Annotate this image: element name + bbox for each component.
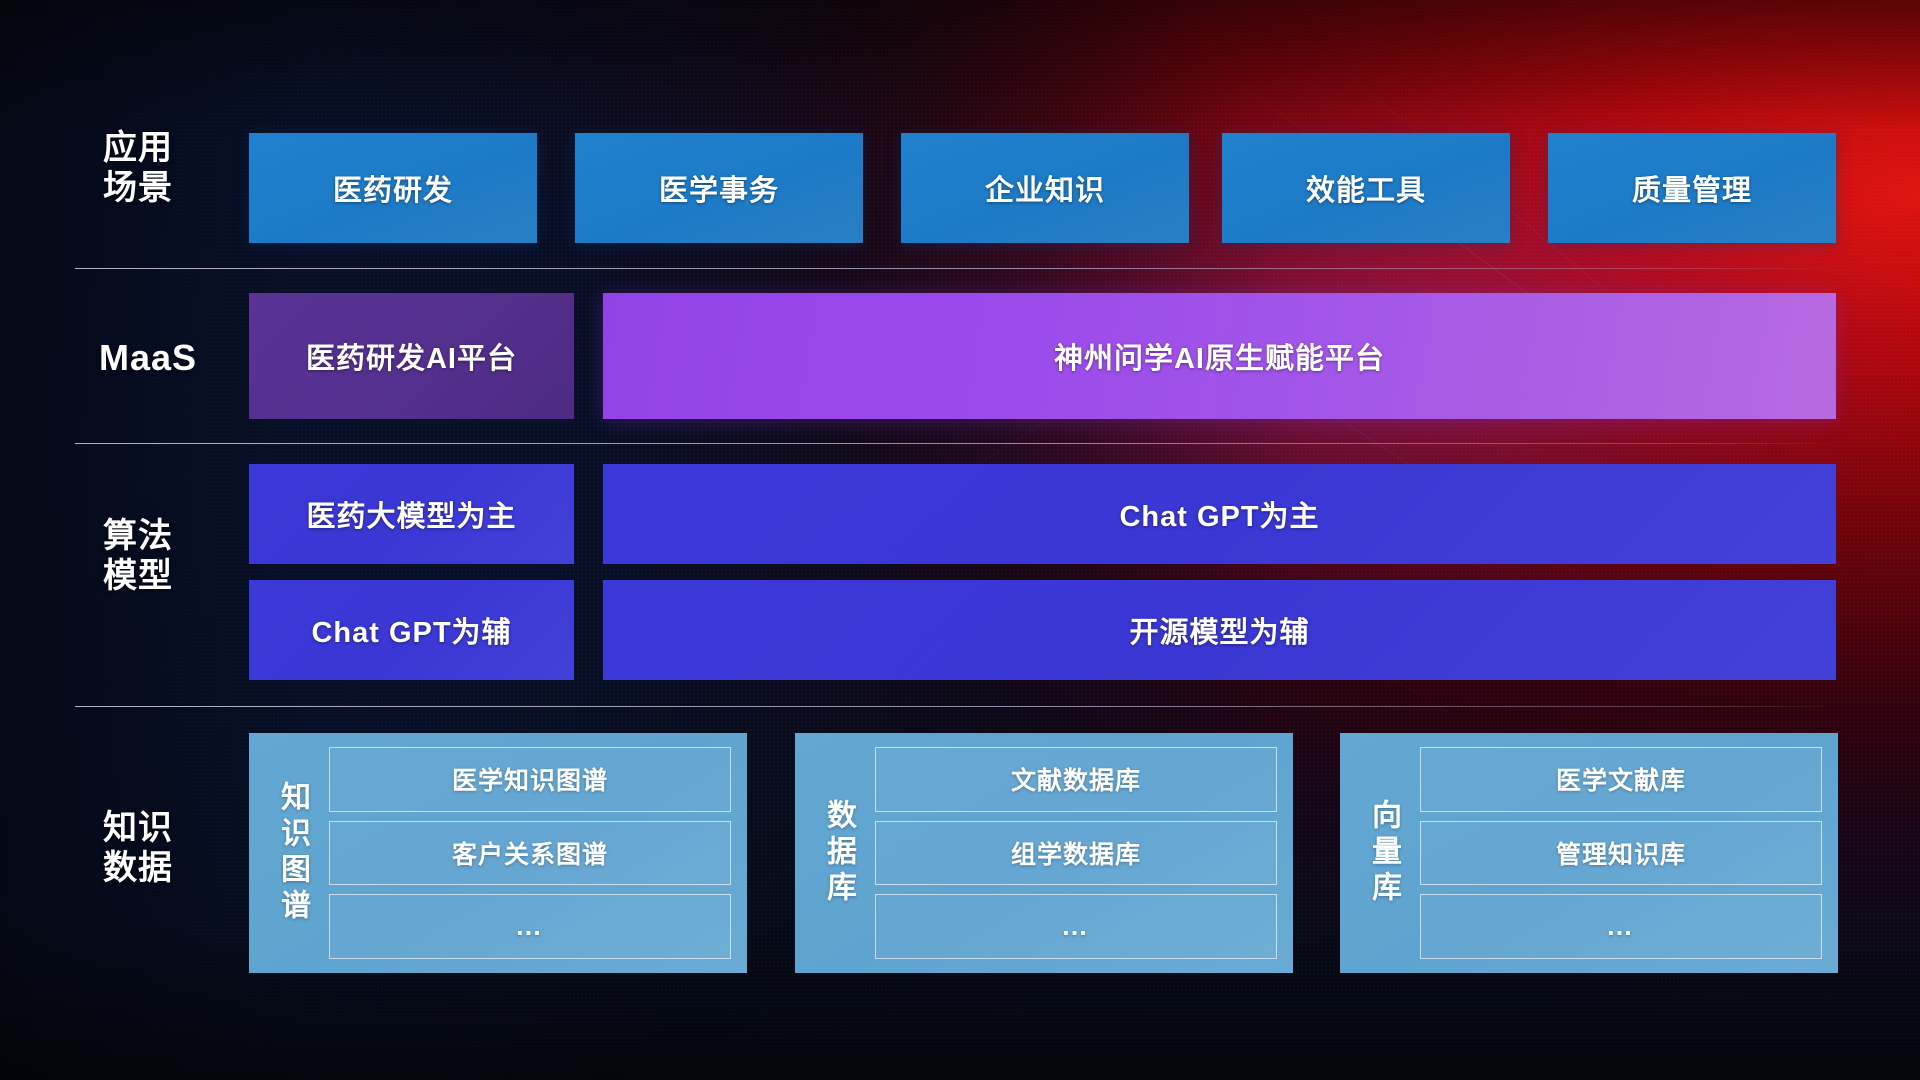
knowledge-block-2-item-2[interactable]: 组学数据库 <box>875 821 1277 886</box>
knowledge-block-3-item-1[interactable]: 医学文献库 <box>1420 747 1822 812</box>
app-card-3[interactable]: 企业知识 <box>901 133 1189 243</box>
app-card-2[interactable]: 医学事务 <box>575 133 863 243</box>
model-card-left-2-label: Chat GPT为辅 <box>311 609 511 651</box>
knowledge-block-1-items: 医学知识图谱 客户关系图谱 … <box>321 747 731 959</box>
model-card-left-1[interactable]: 医药大模型为主 <box>249 464 574 564</box>
app-card-4[interactable]: 效能工具 <box>1222 133 1510 243</box>
knowledge-block-2-items: 文献数据库 组学数据库 … <box>867 747 1277 959</box>
maas-left-card-label: 医药研发AI平台 <box>306 335 517 377</box>
knowledge-block-3[interactable]: 向量库 医学文献库 管理知识库 … <box>1340 733 1838 973</box>
app-card-5-label: 质量管理 <box>1632 167 1752 209</box>
row-label-application: 应用 场景 <box>78 128 198 208</box>
architecture-diagram: 应用 场景 医药研发 医学事务 企业知识 效能工具 质量管理 MaaS 医药研发… <box>0 0 1920 1080</box>
row-label-algorithm: 算法 模型 <box>78 516 198 596</box>
model-card-right-1-label: Chat GPT为主 <box>1119 493 1319 535</box>
app-card-3-label: 企业知识 <box>985 167 1105 209</box>
knowledge-block-3-vertical-label: 向量库 <box>1354 799 1412 907</box>
knowledge-block-2-item-3[interactable]: … <box>875 894 1277 959</box>
knowledge-block-1-item-3[interactable]: … <box>329 894 731 959</box>
row-label-maas: MaaS <box>78 337 218 379</box>
model-card-right-2[interactable]: 开源模型为辅 <box>603 580 1836 680</box>
knowledge-block-3-item-3[interactable]: … <box>1420 894 1822 959</box>
row-label-knowledge: 知识 数据 <box>78 808 198 888</box>
model-card-right-1[interactable]: Chat GPT为主 <box>603 464 1836 564</box>
app-card-5[interactable]: 质量管理 <box>1548 133 1836 243</box>
divider-maas-algorithm <box>75 443 1840 444</box>
knowledge-block-2-item-1[interactable]: 文献数据库 <box>875 747 1277 812</box>
app-card-1-label: 医药研发 <box>333 167 453 209</box>
app-card-4-label: 效能工具 <box>1306 167 1426 209</box>
model-card-left-1-label: 医药大模型为主 <box>306 493 516 535</box>
model-card-right-2-label: 开源模型为辅 <box>1129 609 1309 651</box>
model-card-left-2[interactable]: Chat GPT为辅 <box>249 580 574 680</box>
app-card-2-label: 医学事务 <box>659 167 779 209</box>
knowledge-block-1-item-1[interactable]: 医学知识图谱 <box>329 747 731 812</box>
knowledge-block-1-item-2[interactable]: 客户关系图谱 <box>329 821 731 886</box>
knowledge-block-1-vertical-label: 知识图谱 <box>263 781 321 925</box>
knowledge-block-1[interactable]: 知识图谱 医学知识图谱 客户关系图谱 … <box>249 733 747 973</box>
maas-wide-card[interactable]: 神州问学AI原生赋能平台 <box>603 293 1836 419</box>
knowledge-block-2-vertical-label: 数据库 <box>809 799 867 907</box>
knowledge-block-3-items: 医学文献库 管理知识库 … <box>1412 747 1822 959</box>
maas-left-card[interactable]: 医药研发AI平台 <box>249 293 574 419</box>
knowledge-block-3-item-2[interactable]: 管理知识库 <box>1420 821 1822 886</box>
app-card-1[interactable]: 医药研发 <box>249 133 537 243</box>
divider-algorithm-knowledge <box>75 706 1840 707</box>
divider-application-maas <box>75 268 1840 269</box>
maas-wide-card-label: 神州问学AI原生赋能平台 <box>1054 335 1385 377</box>
knowledge-block-2[interactable]: 数据库 文献数据库 组学数据库 … <box>795 733 1293 973</box>
